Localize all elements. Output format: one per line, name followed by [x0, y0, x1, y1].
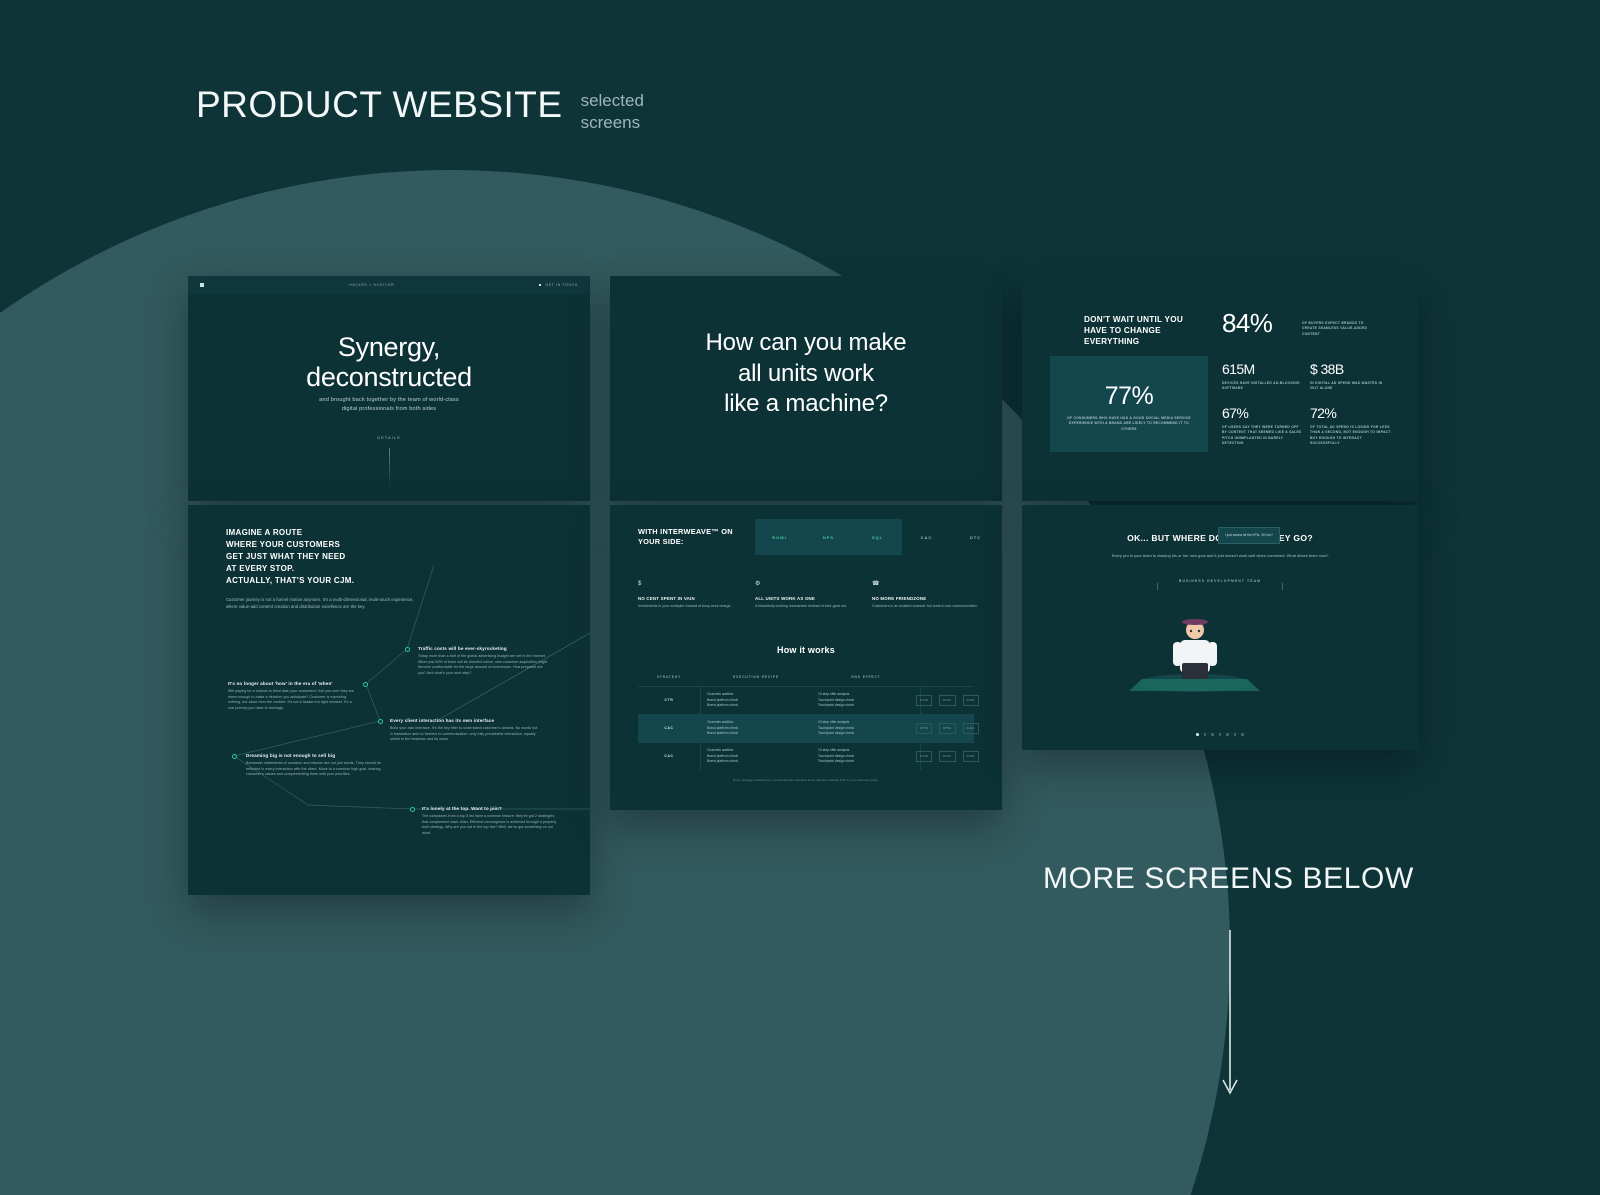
table-footnote: Every strategy is backed by a comprehens…	[638, 779, 974, 783]
hero-scroll-line	[389, 448, 390, 488]
stat-caption: OF BUYERS EXPECT BRANDS TO CREATE SEAMLE…	[1302, 321, 1374, 337]
stat-item: 67% OF USERS SAY THEY WERE TURNED OFF BY…	[1222, 406, 1304, 446]
screen-card-question[interactable]: How can you make all units work like a m…	[610, 276, 1002, 501]
tab-rrpl[interactable]: RRPL	[1000, 519, 1002, 555]
cjm-node-title: It's lonely at the top. Want to join?	[422, 806, 558, 811]
cjm-node-title: Dreaming big is not enough to sell big	[246, 753, 382, 758]
down-arrow-icon	[1222, 930, 1238, 1100]
speech-bubble: I just wanna hit the KPIs, OK bro?	[1218, 527, 1280, 544]
stat-item: 72% OF TOTAL AD SPEND IS LOSING FOR LESS…	[1310, 406, 1392, 446]
cjm-headline: IMAGINE A ROUTEWHERE YOUR CUSTOMERSGET J…	[226, 527, 466, 587]
stat-caption: OF USERS SAY THEY WERE TURNED OFF BY CON…	[1222, 425, 1304, 446]
question-line3: like a machine?	[610, 389, 1002, 420]
cjm-node: It's no longer about 'how' in the era of…	[228, 681, 358, 712]
metric-tab-group-active[interactable]: ROMI NPS SQL	[755, 519, 902, 555]
bullet-icon	[539, 284, 541, 286]
cjm-node-dot-icon	[232, 754, 237, 759]
row-effect: 10-step offer analysisTouchpoint design …	[812, 743, 920, 770]
hero-details-label[interactable]: DETAILS	[188, 436, 590, 440]
stat-value: 67%	[1222, 406, 1304, 420]
table-header-strategy: STRATEGY	[638, 675, 700, 686]
hero-subtitle: and brought back together by the team of…	[188, 396, 590, 413]
page-title: PRODUCT WEBSITE selectedscreens	[196, 86, 644, 134]
row-kpis: CTR DTC CAC	[920, 687, 974, 714]
question-line1: How can you make	[610, 328, 1002, 359]
feature-desc: A beautifully working mechanism instead …	[755, 604, 865, 610]
carousel-dot[interactable]	[1211, 733, 1214, 736]
kpi-badge: DTC	[939, 695, 955, 706]
cjm-node-dot-icon	[363, 682, 368, 687]
screen-card-stats[interactable]: DON'T WAIT UNTIL YOU HAVE TO CHANGE EVER…	[1022, 276, 1418, 501]
screen-card-hero[interactable]: HACKER × HUSTLER GET IN TOUCH Synergy, d…	[188, 276, 590, 501]
row-key: CTR	[638, 687, 700, 714]
page-title-main: PRODUCT WEBSITE	[196, 86, 563, 123]
stat-item: 615M DEVICES HAVE INSTALLED AD-BLOCKING …	[1222, 362, 1304, 392]
stat-value: 72%	[1310, 406, 1392, 420]
feature-item: ☎ NO MORE FRIENDZONE Customers in an iso…	[872, 581, 982, 610]
metric-tabs[interactable]: ROMI NPS SQL CAC DTC RRPL	[755, 519, 1002, 555]
kpi-badge: CAC	[963, 695, 979, 706]
kpi-badge: CTR	[916, 751, 932, 762]
stat-value: 84%	[1222, 310, 1310, 336]
row-key: CAC	[638, 743, 700, 770]
stat-caption: OF TOTAL AD SPEND IS LOSING FOR LESS THA…	[1310, 425, 1392, 446]
money-illustration	[1022, 593, 1418, 703]
row-execution: Channels auditionBrand platform checkBra…	[700, 743, 812, 770]
hero-nav-right[interactable]: GET IN TOUCH	[539, 283, 578, 287]
hero-nav-left[interactable]	[200, 283, 204, 287]
row-key: CAC	[638, 715, 700, 742]
screen-card-cjm[interactable]: IMAGINE A ROUTEWHERE YOUR CUSTOMERSGET J…	[188, 505, 590, 895]
feature-title: ALL UNITS WORK AS ONE	[755, 596, 865, 601]
stat-hero-panel: 77% OF CONSUMERS WHO HAVE HAD A GOOD SOC…	[1050, 356, 1208, 452]
cjm-body-text: Customer journey is not a funnel motion …	[226, 597, 424, 611]
hero-title-line2: deconstructed	[188, 362, 590, 392]
tab-sql[interactable]: SQL	[853, 519, 902, 555]
screen-card-interweave[interactable]: WITH INTERWEAVE™ ON YOUR SIDE: ROMI NPS …	[610, 505, 1002, 810]
dollar-icon: $	[638, 581, 748, 587]
cjm-node-body: Build your own interface. It's the key f…	[390, 726, 540, 743]
tab-cac[interactable]: CAC	[902, 519, 951, 555]
hero-nav-cta-label: GET IN TOUCH	[545, 283, 578, 287]
table-header-row: STRATEGY EXECUTION RECIPE END EFFECT	[638, 675, 974, 686]
screen-card-money[interactable]: OK... BUT WHERE DOES THE MONEY GO? Every…	[1022, 505, 1418, 750]
stat-item: 84% OF BUYERS EXPECT BRANDS TO CREATE SE…	[1222, 310, 1310, 336]
feature-desc: Customers in an isolated channel: full c…	[872, 604, 982, 610]
table-header-effect: END EFFECT	[812, 675, 920, 686]
row-execution: Channels auditionBrand platform checkBra…	[700, 687, 812, 714]
carousel-dots[interactable]	[1022, 733, 1418, 736]
hero-title-line1: Synergy,	[188, 332, 590, 362]
row-kpis: CTR DTC CAC	[920, 743, 974, 770]
kpi-badge: DTC	[939, 723, 955, 734]
how-it-works-title: How it works	[610, 645, 1002, 655]
cjm-node-title: Every client interaction has its own int…	[390, 718, 540, 723]
cjm-node-dot-icon	[410, 807, 415, 812]
question-title: How can you make all units work like a m…	[610, 328, 1002, 420]
tab-dtc[interactable]: DTC	[951, 519, 1000, 555]
stats-headline: DON'T WAIT UNTIL YOU HAVE TO CHANGE EVER…	[1084, 314, 1204, 347]
feature-item: $ NO CENT SPENT IN VAIN Investments in y…	[638, 581, 748, 610]
row-effect: 10-step offer analysisTouchpoint design …	[812, 687, 920, 714]
carousel-dot[interactable]	[1204, 733, 1207, 736]
stat-caption: DEVICES HAVE INSTALLED AD-BLOCKING SOFTW…	[1222, 381, 1304, 392]
hero-subtitle-line2: digital professionals from both sides	[188, 405, 590, 414]
metric-tab-group-inactive[interactable]: CAC DTC RRPL	[902, 519, 1002, 555]
feature-title: NO MORE FRIENDZONE	[872, 596, 982, 601]
cjm-node: Dreaming big is not enough to sell big B…	[246, 753, 382, 778]
kpi-badge: DTC	[939, 751, 955, 762]
hero-title: Synergy, deconstructed	[188, 332, 590, 392]
cjm-node-body: Still paying for a chance to blind date …	[228, 689, 358, 712]
carousel-dot[interactable]	[1196, 733, 1199, 736]
question-line2: all units work	[610, 359, 1002, 390]
cjm-node: Traffic costs will be ever-skyrocketing …	[418, 646, 548, 677]
cjm-node-body: Today more than a half of the global adv…	[418, 654, 548, 677]
tab-romi[interactable]: ROMI	[755, 519, 804, 555]
stat-hero-caption: OF CONSUMERS WHO HAVE HAD A GOOD SOCIAL …	[1064, 416, 1194, 432]
stat-item: $ 38B IN DIGITAL AD SPEND WAS WASTED IN …	[1310, 362, 1392, 392]
feature-desc: Investments in your multiplier instead o…	[638, 604, 748, 610]
table-header-spacer	[920, 675, 974, 686]
money-subtitle: Every pro in your team is chasing his or…	[1102, 553, 1338, 559]
kpi-badge: CAC	[963, 751, 979, 762]
hero-navbar: HACKER × HUSTLER GET IN TOUCH	[188, 276, 590, 294]
logo-mark-icon	[200, 283, 204, 287]
gear-icon: ⚙	[755, 581, 865, 587]
stat-caption: IN DIGITAL AD SPEND WAS WASTED IN 2017 A…	[1310, 381, 1392, 392]
feature-title: NO CENT SPENT IN VAIN	[638, 596, 748, 601]
table-row[interactable]: CAC Channels auditionBrand platform chec…	[638, 742, 974, 770]
hero-subtitle-line1: and brought back together by the team of…	[188, 396, 590, 405]
cjm-node-dot-icon	[378, 719, 383, 724]
carousel-dot[interactable]	[1234, 733, 1237, 736]
carousel-dot[interactable]	[1241, 733, 1244, 736]
kpi-badge: CTR	[916, 695, 932, 706]
carousel-dot[interactable]	[1219, 733, 1222, 736]
page-title-subtitle: selectedscreens	[581, 86, 644, 134]
kpi-badge: CAC	[963, 723, 979, 734]
cjm-node-title: Traffic costs will be ever-skyrocketing	[418, 646, 548, 651]
feature-item: ⚙ ALL UNITS WORK AS ONE A beautifully wo…	[755, 581, 865, 610]
money-team-tag: BUSINESS DEVELOPMENT TEAM	[1022, 579, 1418, 583]
carousel-dot[interactable]	[1226, 733, 1229, 736]
stat-value: $ 38B	[1310, 362, 1392, 376]
cjm-node-body: The companies from a top 5 list have a c…	[422, 814, 558, 837]
tab-nps[interactable]: NPS	[804, 519, 853, 555]
phone-icon: ☎	[872, 581, 982, 587]
how-it-works-table: STRATEGY EXECUTION RECIPE END EFFECT CTR…	[638, 675, 974, 783]
cjm-node-title: It's no longer about 'how' in the era of…	[228, 681, 358, 686]
interweave-headline: WITH INTERWEAVE™ ON YOUR SIDE:	[638, 527, 748, 548]
stat-hero-value: 77%	[1050, 382, 1208, 411]
row-execution: Channels auditionBrand platform checkBra…	[700, 715, 812, 742]
cjm-node-dot-icon	[405, 647, 410, 652]
row-kpis: CTR DTC CAC	[920, 715, 974, 742]
hero-nav-center: HACKER × HUSTLER	[349, 283, 394, 287]
row-effect: 10-step offer analysisTouchpoint design …	[812, 715, 920, 742]
kpi-badge: CTR	[916, 723, 932, 734]
table-row[interactable]: CAC Channels auditionBrand platform chec…	[638, 714, 974, 742]
table-row[interactable]: CTR Channels auditionBrand platform chec…	[638, 686, 974, 714]
cjm-node-body: Bombastic statements of occasion and mis…	[246, 761, 382, 778]
cjm-node: It's lonely at the top. Want to join? Th…	[422, 806, 558, 837]
stat-value: 615M	[1222, 362, 1304, 376]
more-screens-label: MORE SCREENS BELOW	[1043, 862, 1414, 896]
table-header-execution: EXECUTION RECIPE	[700, 675, 812, 686]
character-illustration-icon	[1022, 593, 1418, 703]
cjm-node: Every client interaction has its own int…	[390, 718, 540, 743]
